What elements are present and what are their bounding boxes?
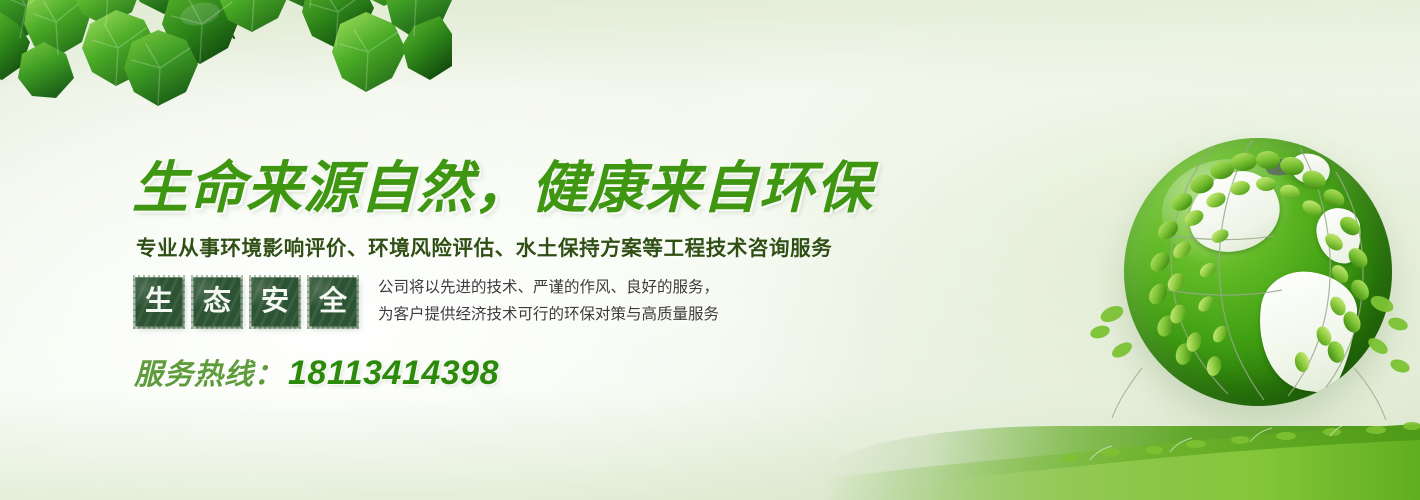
banner-copy: 生命来源自然，健康来自环保 专业从事环境影响评价、环境风险评估、水土保持方案等工… [132,158,892,393]
globe-vine-icon [1124,138,1392,406]
ivy-leaves-decoration [0,0,452,152]
hotline-number[interactable]: 18113414398 [288,354,499,392]
hotline-label: 服务热线： [134,359,284,391]
stamp-char-label: 态 [203,288,231,316]
slogan-line-1: 公司将以先进的技术、严谨的作风、良好的服务， [378,275,719,302]
eco-hero-banner: 生命来源自然，健康来自环保 专业从事环境影响评价、环境风险评估、水土保持方案等工… [0,0,1420,500]
stamps-and-slogan-row: 生 态 安 全 公司将以先进的技术、严谨的作风、良好的服务， 为客户提供经济技术… [132,275,892,328]
service-hotline: 服务热线：18113414398 [134,351,892,393]
slogan-line-2: 为客户提供经济技术可行的环保对策与高质量服务 [378,302,719,329]
page-title: 生命来源自然，健康来自环保 [132,158,892,217]
stamp-char-label: 生 [145,288,173,316]
subtitle: 专业从事环境影响评价、环境风险评估、水土保持方案等工程技术咨询服务 [136,231,892,261]
stamp-group: 生 态 安 全 [136,278,356,326]
stamp-character-4: 全 [310,278,356,326]
grass-ground-decoration [820,408,1420,500]
globe-vines [1124,138,1392,406]
stamp-char-label: 安 [261,288,289,316]
stamp-character-2: 态 [194,278,240,326]
grass-blades-icon [820,408,1420,500]
company-slogan: 公司将以先进的技术、严谨的作风、良好的服务， 为客户提供经济技术可行的环保对策与… [378,275,719,328]
ivy-leaves-icon [0,0,452,157]
globe-icon [1124,138,1392,406]
stamp-character-1: 生 [136,278,182,326]
stamp-char-label: 全 [319,288,347,316]
stamp-character-3: 安 [252,278,298,326]
